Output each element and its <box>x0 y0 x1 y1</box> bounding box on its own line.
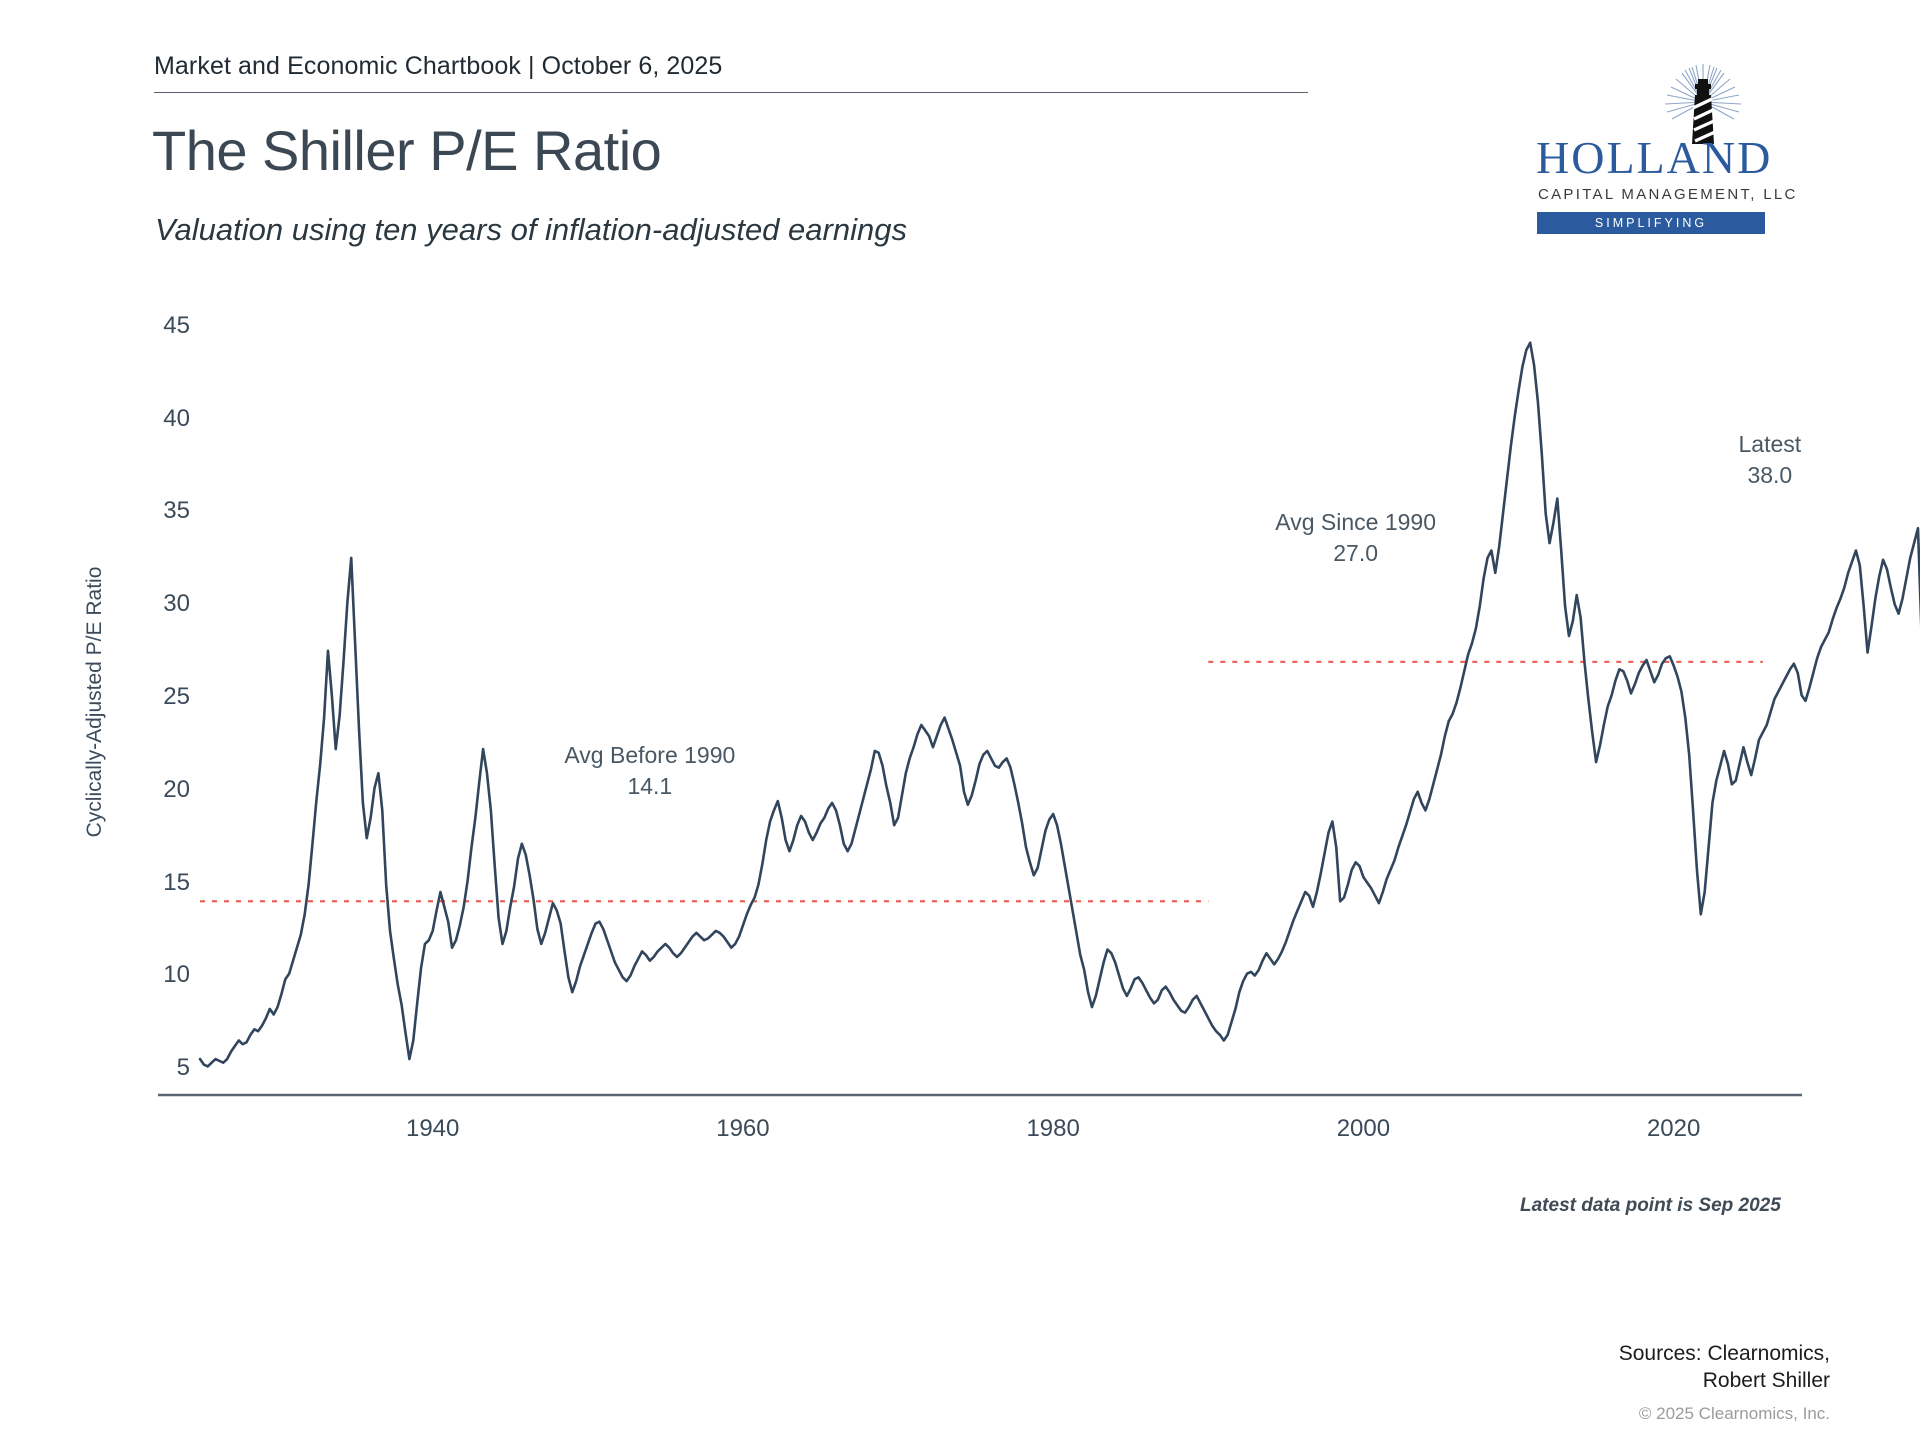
annotation-label: Avg Before 1990 <box>540 740 760 771</box>
y-tick-40: 40 <box>142 405 190 433</box>
x-tick-2000: 2000 <box>1303 1115 1423 1143</box>
logo-tagline: SIMPLIFYING COMPLEXITY <box>1537 212 1765 256</box>
page-title: The Shiller P/E Ratio <box>152 118 661 183</box>
annotation-avg-since-1990: Avg Since 199027.0 <box>1246 507 1466 569</box>
x-tick-1960: 1960 <box>683 1115 803 1143</box>
page-subtitle: Valuation using ten years of inflation-a… <box>155 212 907 248</box>
sources-block: Sources: Clearnomics, Robert Shiller <box>1619 1340 1830 1395</box>
average-reference-lines <box>200 662 1763 901</box>
y-tick-25: 25 <box>142 683 190 711</box>
latest-data-note: Latest data point is Sep 2025 <box>1520 1195 1780 1217</box>
annotation-label: Avg Since 1990 <box>1246 507 1466 538</box>
y-tick-20: 20 <box>142 776 190 804</box>
company-logo: HOLLAND CAPITAL MANAGEMENT, LLC SIMPLIFY… <box>1528 62 1776 212</box>
header-bar: Market and Economic Chartbook | October … <box>154 52 1308 93</box>
x-tick-2020: 2020 <box>1614 1115 1734 1143</box>
annotation-value: 14.1 <box>540 771 760 802</box>
annotation-label: Latest <box>1660 429 1880 460</box>
y-tick-30: 30 <box>142 590 190 618</box>
x-tick-1940: 1940 <box>373 1115 493 1143</box>
y-tick-15: 15 <box>142 869 190 897</box>
y-tick-10: 10 <box>142 961 190 989</box>
logo-subline: CAPITAL MANAGEMENT, LLC <box>1538 186 1798 203</box>
annotation-latest: Latest38.0 <box>1660 429 1880 491</box>
annotation-value: 38.0 <box>1660 460 1880 491</box>
logo-wordmark: HOLLAND <box>1536 135 1772 181</box>
y-tick-45: 45 <box>142 312 190 340</box>
header-divider <box>154 92 1308 93</box>
y-tick-5: 5 <box>142 1054 190 1082</box>
copyright-notice: © 2025 Clearnomics, Inc. <box>1639 1404 1830 1424</box>
y-axis-title: Cyclically-Adjusted P/E Ratio <box>83 552 107 852</box>
chartbook-label: Market and Economic Chartbook | October … <box>154 52 1308 81</box>
sources-line-2: Robert Shiller <box>1619 1367 1830 1394</box>
annotation-value: 27.0 <box>1246 538 1466 569</box>
sources-line-1: Sources: Clearnomics, <box>1619 1340 1830 1367</box>
x-tick-1980: 1980 <box>993 1115 1113 1143</box>
logo-tagline-bar: SIMPLIFYING COMPLEXITY <box>1537 212 1765 234</box>
annotation-avg-before-1990: Avg Before 199014.1 <box>540 740 760 802</box>
y-tick-35: 35 <box>142 497 190 525</box>
